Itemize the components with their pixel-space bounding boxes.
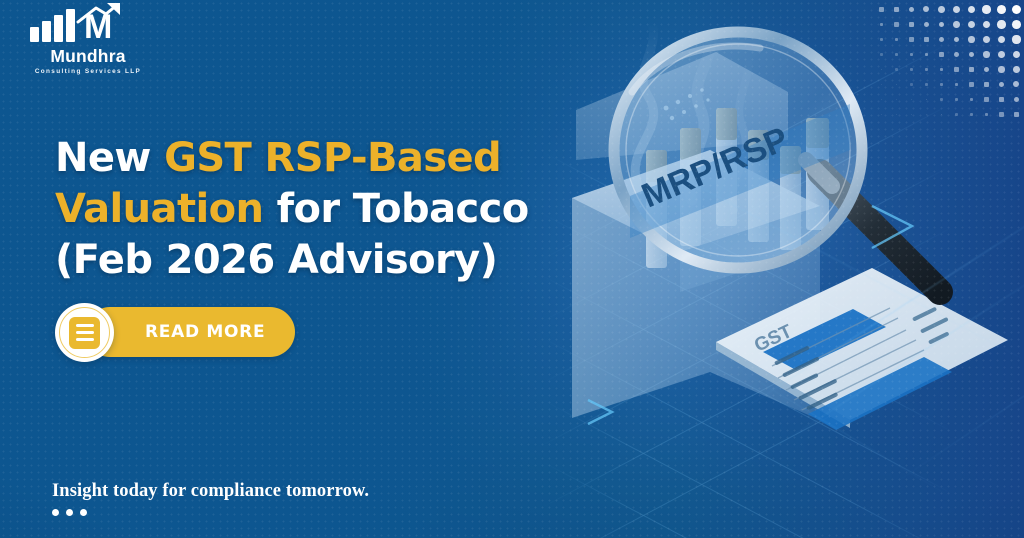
headline: New GST RSP-Based Valuation for Tobacco … (55, 133, 595, 286)
headline-line-3: (Feb 2026 Advisory) (55, 235, 595, 286)
read-more-button[interactable]: READ MORE (55, 302, 295, 362)
headline-gst-rsp-based: GST RSP-Based (164, 135, 501, 181)
read-more-circle[interactable] (55, 303, 114, 362)
growth-arrow-icon (76, 2, 122, 24)
headline-line-1: New GST RSP-Based (55, 133, 595, 184)
tagline: Insight today for compliance tomorrow. (52, 481, 369, 502)
tagline-dots (52, 509, 87, 516)
brand-name: Mundhra (22, 47, 154, 65)
read-more-pill[interactable]: READ MORE (85, 307, 295, 357)
tagline-dot (66, 509, 73, 516)
read-more-label: READ MORE (145, 322, 265, 342)
logo-mark-icon: M (22, 8, 154, 46)
tagline-dot (52, 509, 59, 516)
headline-line-2: Valuation for Tobacco (55, 184, 595, 235)
promo-banner: GST (0, 0, 1024, 538)
headline-valuation: Valuation (55, 186, 263, 232)
halftone-dots-decor (874, 2, 1024, 117)
brand-logo[interactable]: M Mundhra Consulting Services LLP (22, 8, 154, 76)
headline-new: New (55, 135, 164, 181)
headline-for-tobacco: for Tobacco (263, 186, 528, 232)
tagline-dot (80, 509, 87, 516)
list-lines-icon (69, 317, 100, 349)
brand-subtitle: Consulting Services LLP (22, 67, 154, 77)
